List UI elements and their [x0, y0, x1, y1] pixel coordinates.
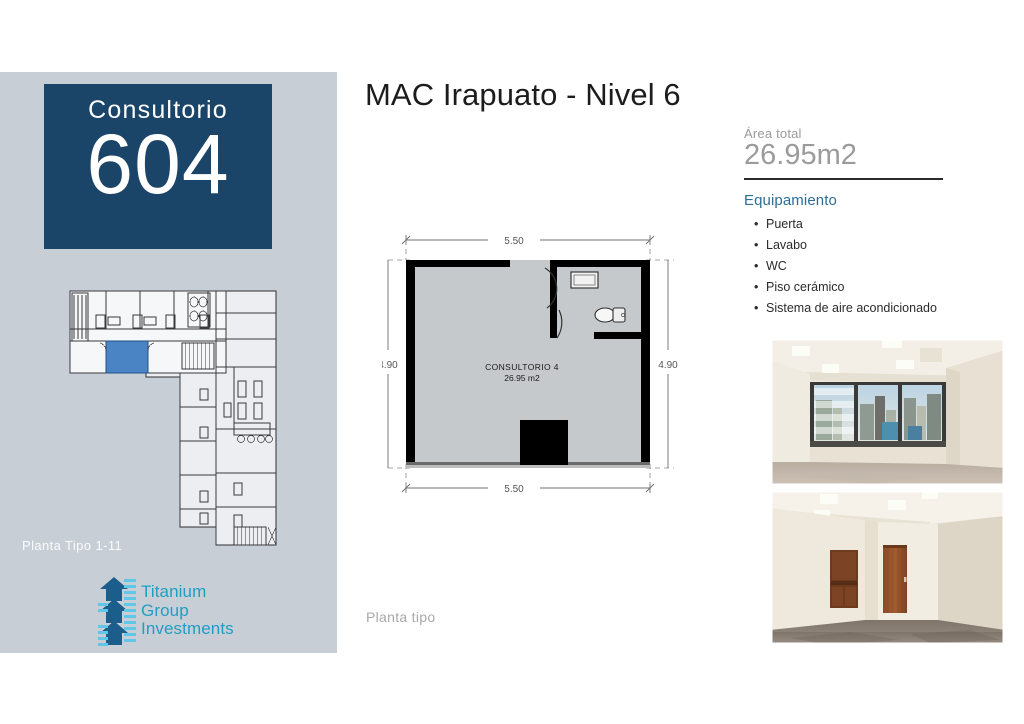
- page-title: MAC Irapuato - Nivel 6: [365, 77, 681, 113]
- unit-floor-plan[interactable]: 5.50 5.50: [382, 222, 687, 507]
- mini-plan-caption: Planta Tipo 1-11: [22, 538, 122, 553]
- interior-window-view-photo[interactable]: [770, 338, 1005, 486]
- titanium-group-logo: Titanium Group Investments: [98, 572, 248, 650]
- dimension-left: 4.90: [382, 360, 398, 371]
- area-total-value: 26.95m2: [744, 139, 994, 172]
- logo-line-2: Group: [141, 602, 234, 620]
- list-item: Lavabo: [744, 235, 994, 256]
- logo-line-3: Investments: [141, 620, 234, 638]
- list-item: Puerta: [744, 214, 994, 235]
- chevron-arrows-icon: [98, 575, 138, 647]
- list-item: Piso cerámico: [744, 277, 994, 298]
- dimension-top: 5.50: [504, 236, 524, 247]
- list-item: WC: [744, 256, 994, 277]
- mini-floor-plan[interactable]: [48, 277, 298, 552]
- unit-badge-number: 604: [86, 125, 229, 205]
- list-item: Sistema de aire acondicionado: [744, 298, 994, 319]
- floor-plan-caption: Planta tipo: [366, 609, 435, 625]
- equipment-title: Equipamiento: [744, 192, 994, 209]
- sidebar-panel: Consultorio 604: [0, 72, 337, 653]
- interior-doors-view-photo[interactable]: [770, 490, 1005, 645]
- info-column: Área total 26.95m2 Equipamiento Puerta L…: [744, 126, 994, 319]
- dimension-bottom: 5.50: [504, 484, 524, 495]
- room-area: 26.95 m2: [504, 373, 540, 383]
- page-root: Consultorio 604: [0, 0, 1024, 724]
- unit-badge: Consultorio 604: [44, 84, 272, 249]
- logo-line-1: Titanium: [141, 583, 234, 601]
- equipment-list: Puerta Lavabo WC Piso cerámico Sistema d…: [744, 214, 994, 319]
- divider: [744, 178, 943, 180]
- room-label: CONSULTORIO 4: [485, 362, 559, 372]
- dimension-right: 4.90: [658, 360, 678, 371]
